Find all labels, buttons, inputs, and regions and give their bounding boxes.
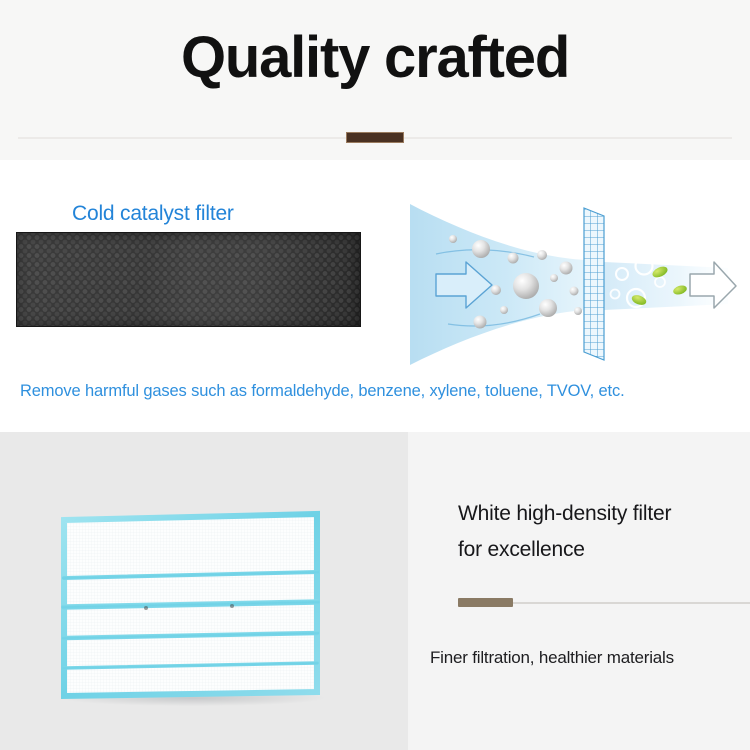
cold-catalyst-section: Cold catalyst filter (0, 160, 750, 432)
particle (491, 285, 501, 295)
particle (560, 262, 573, 275)
white-filter-title-line1: White high-density filter (458, 496, 671, 532)
white-high-density-mesh-filter-image (58, 508, 323, 700)
white-filter-title-line2: for excellence (458, 532, 671, 568)
cold-catalyst-caption: Remove harmful gases such as formaldehyd… (20, 382, 625, 401)
infographic-page: Quality crafted Cold catalyst filter (0, 0, 750, 750)
header-banner: Quality crafted (0, 0, 750, 160)
particle (539, 299, 557, 317)
particle (550, 274, 558, 282)
particle (500, 306, 508, 314)
particle (472, 240, 490, 258)
header-accent-bar (346, 132, 404, 143)
particle (474, 316, 487, 329)
frame-clip-nub (144, 606, 148, 610)
filter-membrane-mesh (584, 208, 604, 360)
white-filter-accent-bar (458, 598, 513, 607)
particle (537, 250, 547, 260)
white-filter-title: White high-density filter for excellence (458, 496, 671, 568)
cold-catalyst-heading: Cold catalyst filter (72, 202, 234, 226)
particle (574, 307, 582, 315)
frame-clip-nub (230, 604, 234, 608)
particle (449, 235, 457, 243)
airflow-filtration-diagram (408, 202, 738, 367)
particle (570, 287, 579, 296)
black-honeycomb-carbon-filter-image (16, 232, 361, 327)
carbon-filter-sheen (17, 233, 360, 326)
particle (513, 273, 539, 299)
white-filter-text-panel (408, 432, 750, 750)
page-title: Quality crafted (0, 28, 750, 89)
white-filter-subtitle: Finer filtration, healthier materials (430, 648, 674, 668)
particle (508, 253, 519, 264)
